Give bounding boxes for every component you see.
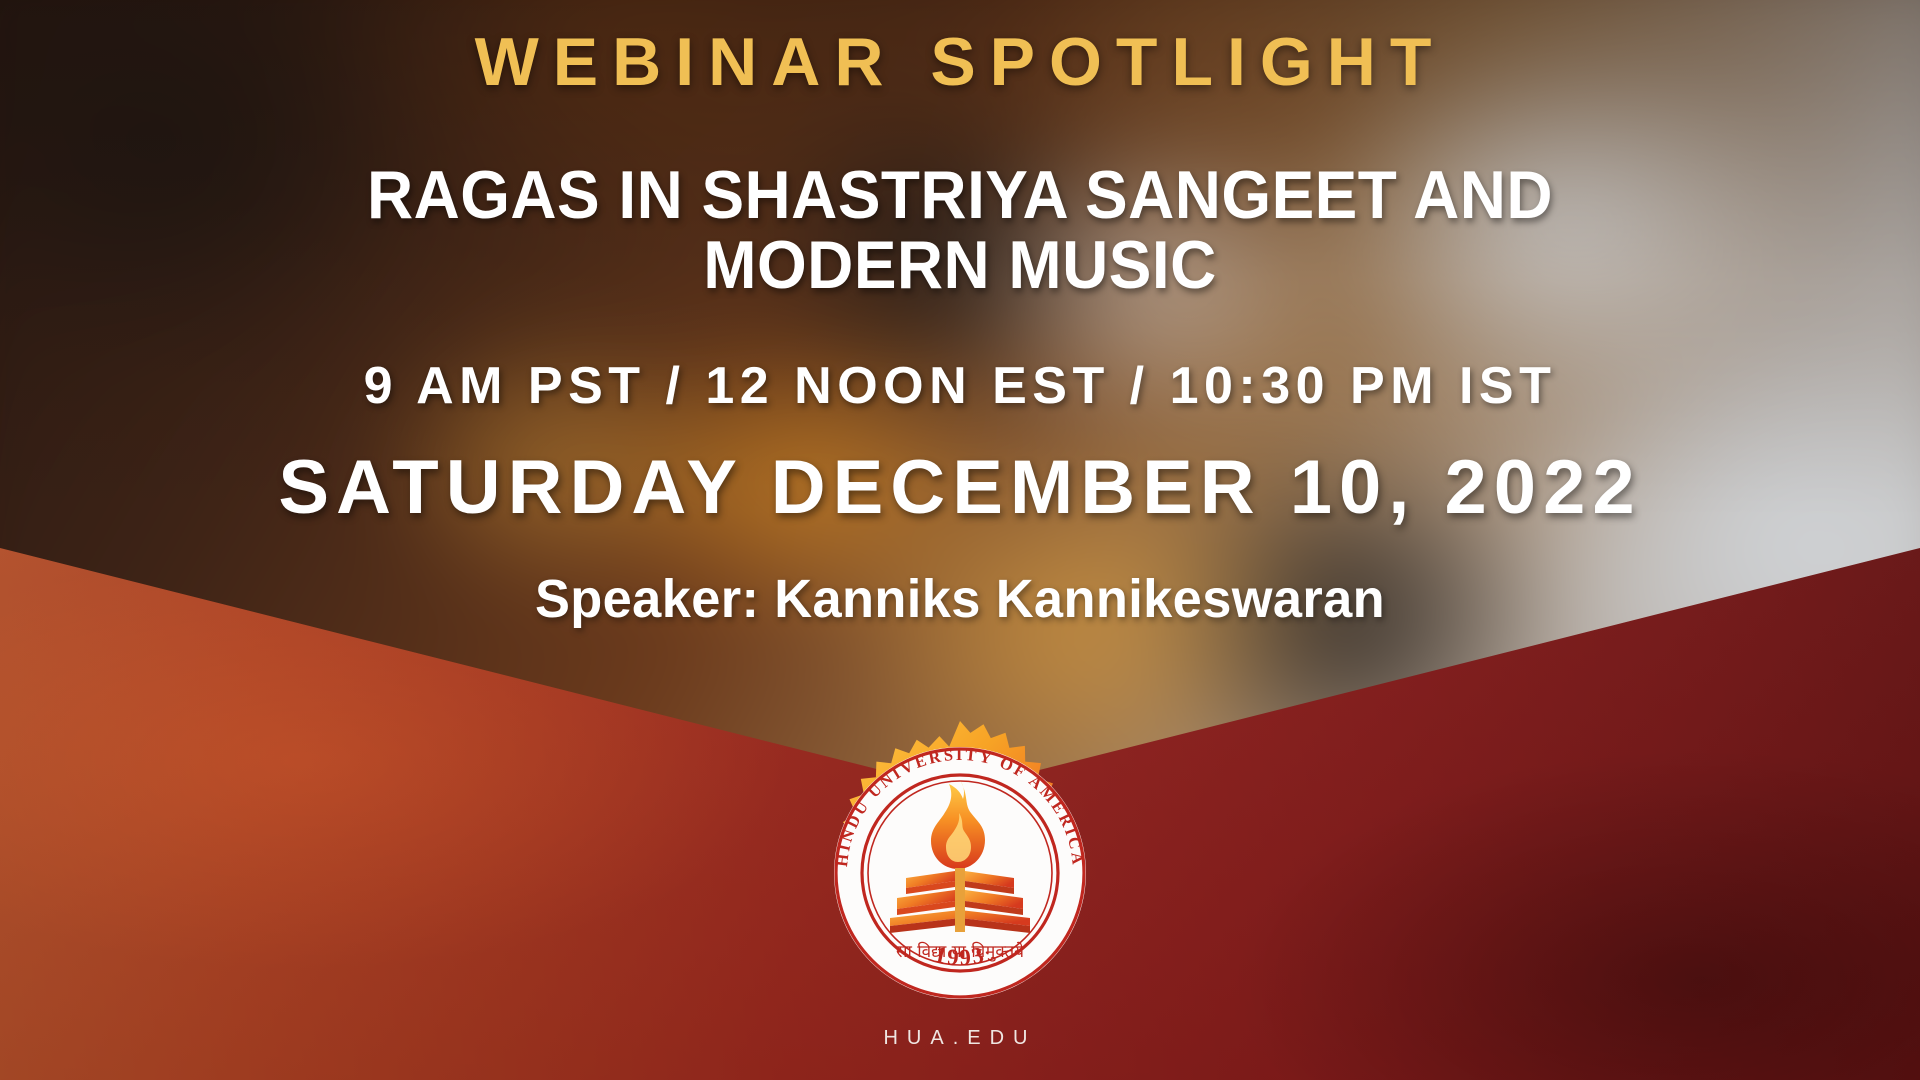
speaker-name: Speaker: Kanniks Kannikeswaran [29, 572, 1891, 626]
hua-logo: HINDU UNIVERSITY OF AMERICA 1993 [805, 718, 1115, 1028]
university-seal-icon: HINDU UNIVERSITY OF AMERICA 1993 [805, 718, 1115, 1028]
poster-content: WEBINAR SPOTLIGHT RAGAS IN SHASTRIYA SAN… [0, 0, 1920, 1080]
seal-motto-text: सा विद्या या विमुक्तये [896, 941, 1025, 962]
webinar-poster: WEBINAR SPOTLIGHT RAGAS IN SHASTRIYA SAN… [0, 0, 1920, 1080]
seal-books-icon [890, 868, 1030, 933]
webinar-date: SATURDAY DECEMBER 10, 2022 [0, 450, 1920, 526]
eyebrow-label: WEBINAR SPOTLIGHT [0, 28, 1920, 96]
webinar-time: 9 AM PST / 12 NOON EST / 10:30 PM IST [0, 360, 1920, 412]
page-title: RAGAS IN SHASTRIYA SANGEET AND MODERN MU… [227, 160, 1693, 300]
website-url: HUA.EDU [0, 1028, 1920, 1048]
